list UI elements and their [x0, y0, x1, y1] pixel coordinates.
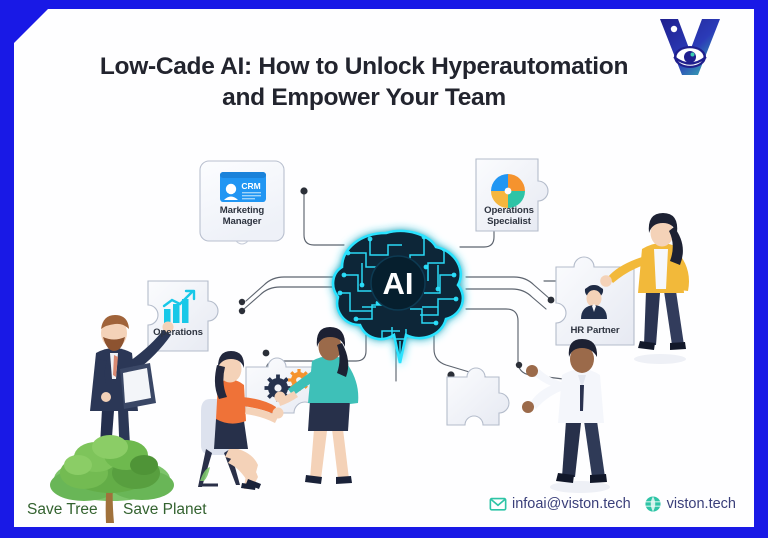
- envelope-icon: [489, 495, 507, 513]
- save-planet-text: Save Planet: [123, 501, 207, 519]
- email-contact[interactable]: infoai@viston.tech: [489, 495, 631, 513]
- brain-center-label: AI: [383, 266, 414, 301]
- viston-logo: [638, 9, 742, 89]
- poster-canvas: Low-Cade AI: How to Unlock Hyperautomati…: [14, 9, 754, 527]
- footer-contact: infoai@viston.tech viston.tech: [489, 495, 736, 513]
- globe-icon: [644, 495, 662, 513]
- poster-root: Low-Cade AI: How to Unlock Hyperautomati…: [0, 0, 768, 538]
- node-blank-piece: [447, 368, 509, 425]
- save-tree-text: Save Tree: [27, 501, 98, 519]
- email-text: infoai@viston.tech: [512, 496, 631, 512]
- circuit-brain-icon: AI: [330, 229, 470, 363]
- node-marketing-manager: CRM: [200, 161, 284, 244]
- node-operations-specialist: [476, 159, 548, 231]
- svg-text:CRM: CRM: [241, 181, 260, 191]
- website-contact[interactable]: viston.tech: [644, 495, 736, 513]
- person-man-white-shirt: [522, 339, 610, 493]
- save-tree-slogan: Save Tree Save Planet: [20, 489, 230, 525]
- website-text: viston.tech: [667, 496, 736, 512]
- corner-decoration: [14, 9, 48, 43]
